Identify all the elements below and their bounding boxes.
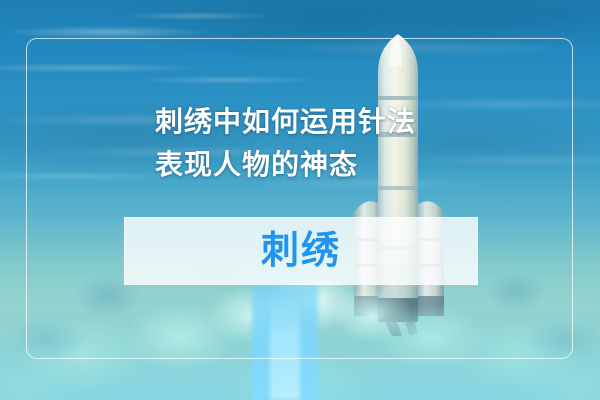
headline-line-1: 刺绣中如何运用针法 [155,100,416,143]
exhaust-core-icon [270,292,300,400]
keyword-label: 刺绣 [261,232,341,270]
headline-line-2: 表现人物的神态 [155,143,416,186]
banner-headline: 刺绣中如何运用针法 表现人物的神态 [155,100,416,186]
keyword-panel[interactable]: 刺绣 [124,217,478,285]
promo-banner: 刺绣中如何运用针法 表现人物的神态 刺绣 [0,0,600,400]
